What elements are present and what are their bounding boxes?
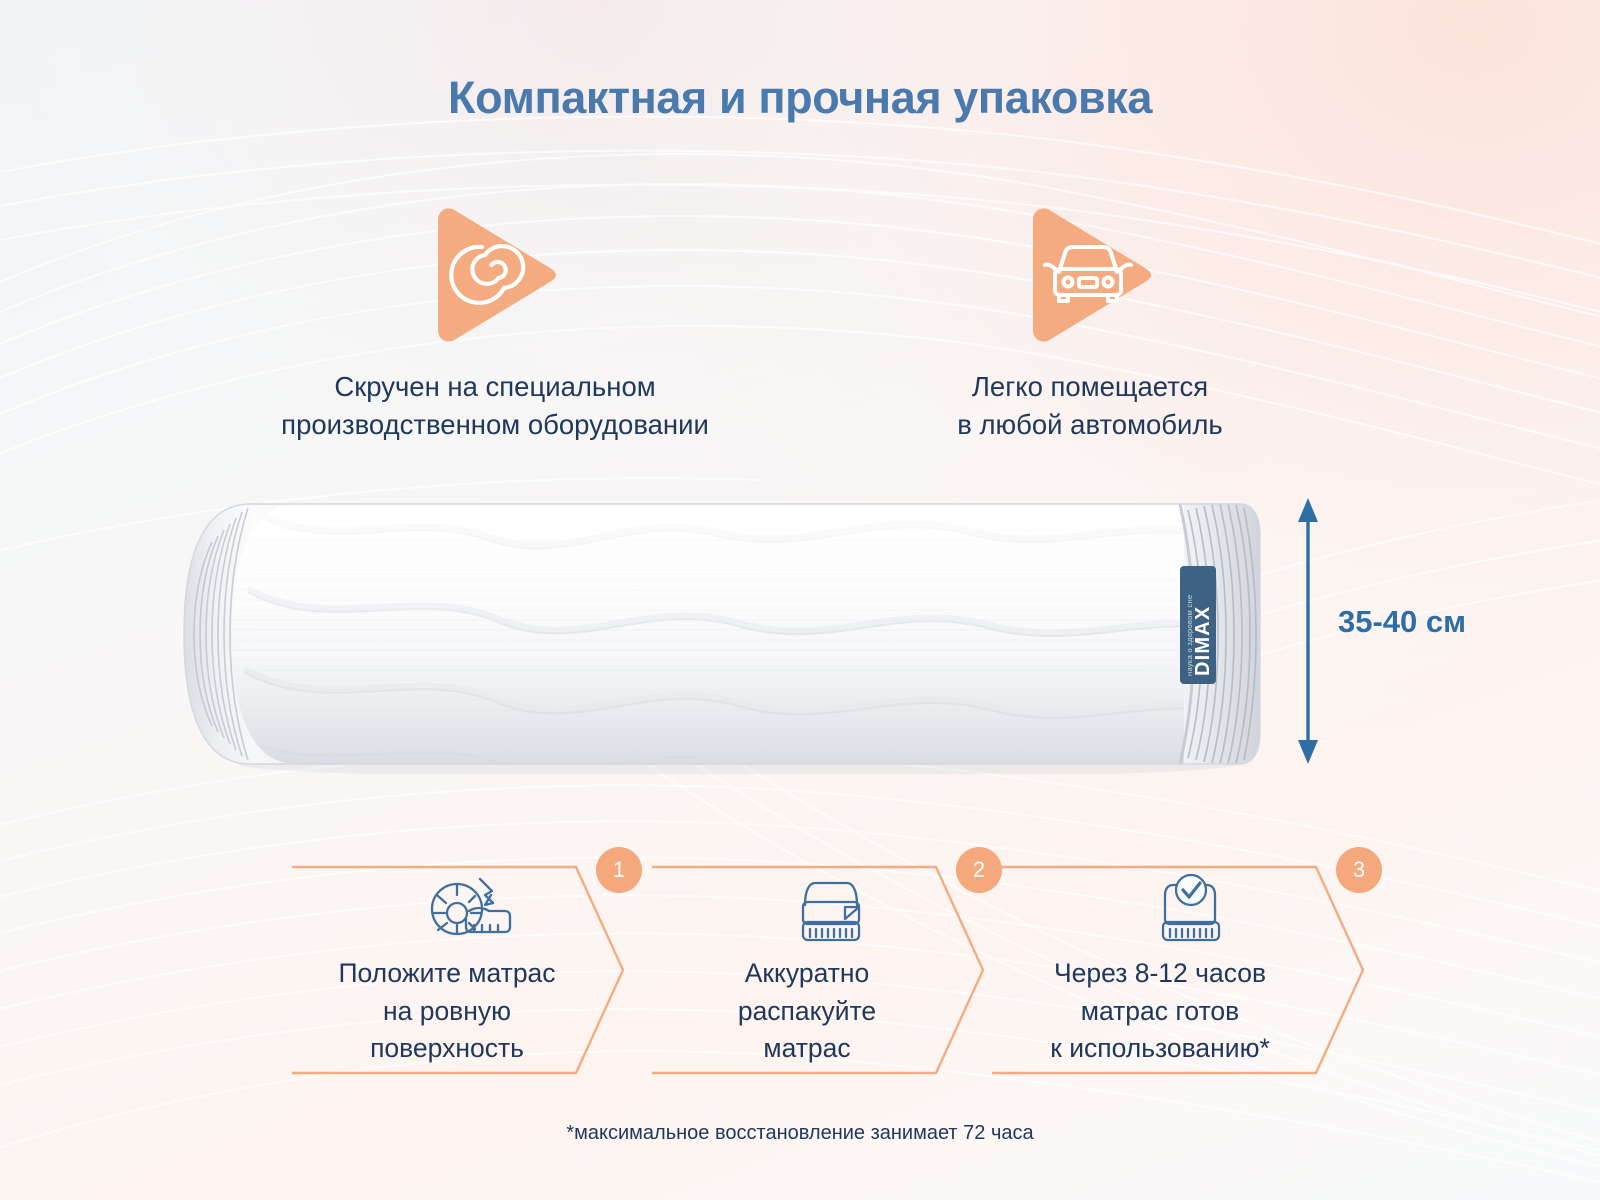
step-icon-1 (290, 869, 650, 949)
step-number-1: 1 (596, 847, 642, 893)
step-item-3: 3 Через 8-12 часов матрас готов к исполь… (990, 845, 1390, 1095)
dimension-label: 35-40 см (1338, 604, 1466, 640)
step-text-1: Положите матрас на ровную поверхность (290, 955, 604, 1068)
car-front-icon (1015, 200, 1165, 350)
step-icon-2 (650, 869, 1010, 949)
feature-badge-1 (420, 200, 570, 350)
step-item-2: 2 Аккуратно распакуйте матрас (650, 845, 1010, 1095)
feature-badge-2 (1015, 200, 1165, 350)
step-number-3: 3 (1336, 847, 1382, 893)
footnote-text: *максимальное восстановление занимает 72… (0, 1122, 1600, 1145)
step-text-3: Через 8-12 часов матрас готов к использо… (990, 955, 1330, 1068)
svg-text:DIMAX: DIMAX (1192, 606, 1214, 676)
page-title: Компактная и прочная упаковка (0, 72, 1600, 124)
step-text-2: Аккуратно распакуйте матрас (650, 955, 964, 1068)
unpack-mattress-icon (785, 869, 875, 949)
rolled-mattress-image: DIMAX наука о здоровом сне (178, 496, 1278, 774)
spiral-roll-icon (420, 200, 570, 350)
step-icon-3 (990, 869, 1390, 949)
feature-caption-2: Легко помещается в любой автомобиль (880, 368, 1300, 444)
feature-caption-1: Скручен на специальном производственном … (215, 368, 775, 444)
steps-row: 1 Положите матрас на ровную поверхность (290, 845, 1300, 1095)
infographic-page: Компактная и прочная упаковка Скручен на… (0, 0, 1600, 1200)
dimension-indicator: 35-40 см (1288, 496, 1588, 766)
mattress-roll-graphic: DIMAX наука о здоровом сне (178, 496, 1278, 774)
svg-text:наука о здоровом сне: наука о здоровом сне (1185, 595, 1194, 676)
feature-fits-any-car: Легко помещается в любой автомобиль (880, 200, 1300, 444)
mattress-check-icon (1145, 869, 1235, 949)
feature-rolled-on-equipment: Скручен на специальном производственном … (215, 200, 775, 444)
step-item-1: 1 Положите матрас на ровную поверхность (290, 845, 650, 1095)
brand-label-tag: DIMAX наука о здоровом сне (1180, 566, 1216, 684)
rolled-mattress-measure-icon (425, 869, 515, 949)
